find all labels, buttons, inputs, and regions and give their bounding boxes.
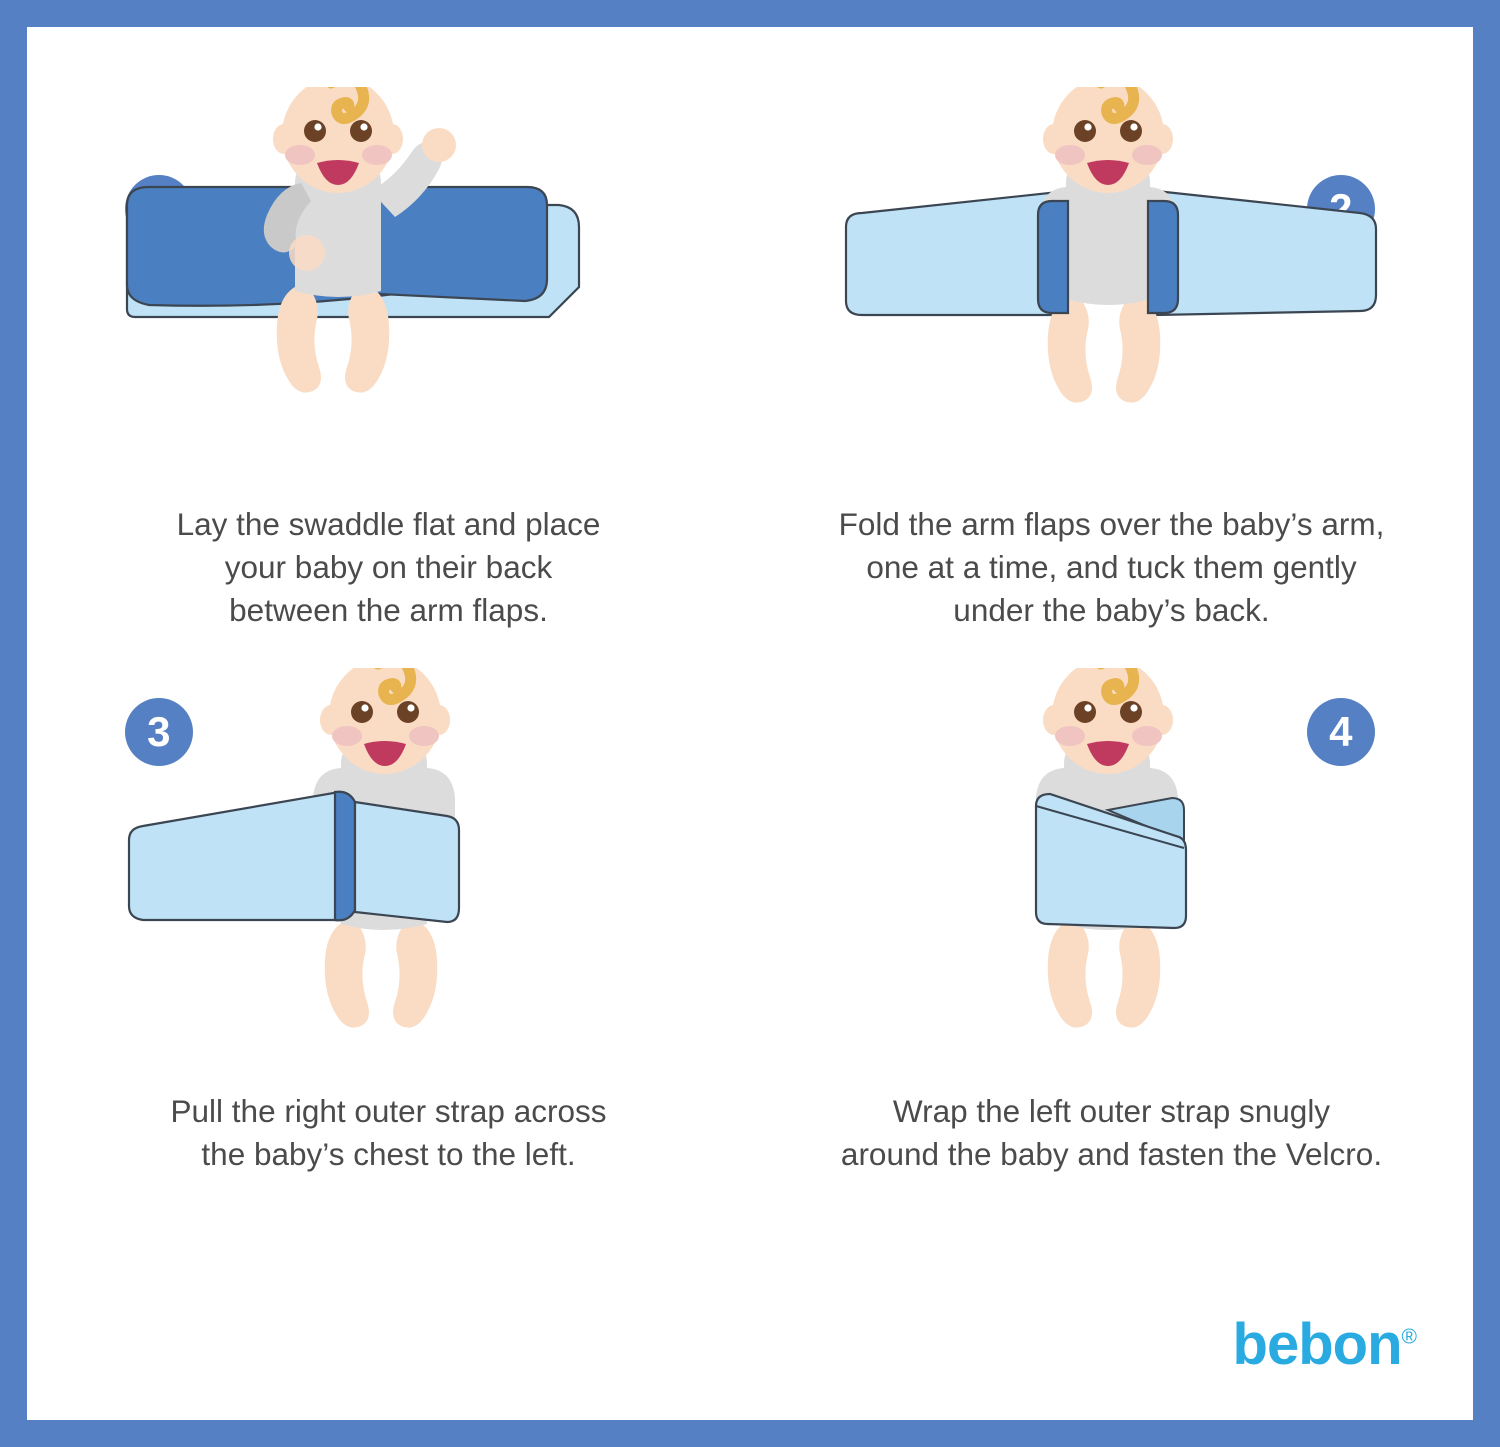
step-caption-4: Wrap the left outer strap snugly around … [822,1090,1402,1176]
poster-frame: 1 [0,0,1500,1447]
step-1: 1 [27,27,750,658]
step-2: 2 [750,27,1473,658]
swaddle-right-strap-pulled [129,792,459,922]
illustration-step-3 [27,668,750,1068]
step-3: 3 [27,658,750,1289]
step-4: 4 [750,658,1473,1289]
registered-trademark-icon: ® [1402,1326,1417,1349]
illustration-step-1 [27,87,750,487]
steps-grid: 1 [27,27,1473,1289]
step-caption-3: Pull the right outer strap across the ba… [99,1090,679,1176]
step-caption-1: Lay the swaddle flat and place your baby… [99,503,679,632]
illustration-step-2 [750,87,1473,487]
poster-canvas: 1 [27,27,1473,1420]
brand-logo: bebon® [1233,1311,1417,1378]
swaddle-fully-wrapped [1036,794,1186,928]
baby-figure-2 [1038,87,1178,403]
step-caption-2: Fold the arm flaps over the baby’s arm, … [822,503,1402,632]
illustration-step-4 [750,668,1473,1068]
brand-name: bebon [1233,1312,1402,1377]
